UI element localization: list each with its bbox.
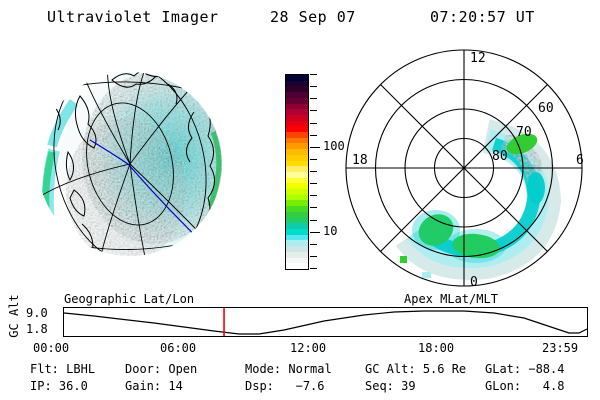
apex-polar-panel[interactable]: 12 6 0 18 60 70 80	[336, 40, 596, 292]
mlt-label-12: 12	[470, 51, 486, 66]
mlt-label-0: 0	[470, 275, 478, 290]
status-dsp: Dsp: −7.6	[245, 379, 325, 393]
orbit-curve	[64, 308, 587, 336]
apex-mlt-spokes	[346, 50, 582, 286]
time-tick-2: 12:00	[290, 341, 326, 355]
colorbar-minor-tick	[310, 195, 317, 196]
mlt-label-18: 18	[352, 153, 368, 168]
time-tick-1: 06:00	[160, 341, 196, 355]
status-row: IP: 36.0 Gain: 14 Dsp: −7.6 Seq: 39 GLon…	[0, 379, 600, 396]
colorbar-minor-tick	[310, 207, 317, 208]
colorbar-minor-tick	[310, 159, 317, 160]
apex-caption: Apex MLat/MLT	[404, 292, 498, 306]
colorbar-minor-tick	[310, 220, 317, 221]
colorbar-minor-tick	[310, 98, 317, 99]
status-glat: GLat: −88.4	[485, 362, 564, 376]
time-tick-4: 23:59	[542, 341, 578, 355]
observation-time: 07:20:57 UT	[430, 8, 535, 26]
time-axis: 00:00 06:00 12:00 18:00 23:59	[0, 341, 600, 357]
time-tick-3: 18:00	[418, 341, 454, 355]
status-door: Door: Open	[125, 362, 197, 376]
page-title: Ultraviolet Imager	[47, 8, 219, 26]
colorbar-minor-tick	[310, 74, 317, 75]
colorbar-major-tick	[310, 147, 320, 148]
orbit-y-axis-label: GC Alt	[7, 286, 21, 346]
status-flt: Flt: LBHL	[30, 362, 95, 376]
orbit-plot-area[interactable]	[63, 307, 588, 337]
colorbar-minor-tick	[310, 171, 317, 172]
header-bar: Ultraviolet Imager 28 Sep 07 07:20:57 UT	[0, 6, 600, 32]
colorbar-gradient	[285, 74, 309, 270]
colorbar-minor-tick	[310, 256, 317, 257]
colorbar-minor-tick	[310, 86, 317, 87]
time-tick-0: 00:00	[33, 341, 69, 355]
colorbar-major-tick	[310, 232, 320, 233]
colorbar-panel: photon cm⁻²s⁻¹ 10010	[276, 58, 340, 288]
status-ip: IP: 36.0	[30, 379, 88, 393]
mlt-label-6: 6	[576, 153, 584, 168]
colorbar-minor-tick	[310, 110, 317, 111]
colorbar-minor-tick	[310, 123, 317, 124]
status-gcalt: GC Alt: 5.6 Re	[365, 362, 466, 376]
colorbar-minor-tick	[310, 183, 317, 184]
status-gain: Gain: 14	[125, 379, 183, 393]
orbit-tick-low: 1.8	[26, 322, 48, 336]
geographic-image-panel[interactable]	[8, 40, 266, 292]
status-mode: Mode: Normal	[245, 362, 332, 376]
geographic-caption: Geographic Lat/Lon	[64, 292, 194, 306]
geographic-globe	[8, 40, 266, 292]
colorbar-minor-tick	[310, 244, 317, 245]
orbit-altitude-strip[interactable]: GC Alt 9.0 1.8	[0, 307, 600, 339]
apex-polar-dial: 12 6 0 18 60 70 80	[336, 40, 596, 292]
orbit-tick-high: 9.0	[26, 306, 48, 320]
observation-date: 28 Sep 07	[270, 8, 356, 26]
mlat-label-60: 60	[538, 101, 554, 116]
colorbar-band	[286, 263, 308, 269]
colorbar-minor-tick	[310, 268, 317, 269]
status-seq: Seq: 39	[365, 379, 416, 393]
status-glon: GLon: 4.8	[485, 379, 564, 393]
status-row: Flt: LBHL Door: Open Mode: Normal GC Alt…	[0, 362, 600, 379]
colorbar-minor-tick	[310, 135, 317, 136]
mlat-label-70: 70	[516, 125, 532, 140]
status-panel: Flt: LBHL Door: Open Mode: Normal GC Alt…	[0, 362, 600, 400]
mlat-label-80: 80	[492, 149, 508, 164]
